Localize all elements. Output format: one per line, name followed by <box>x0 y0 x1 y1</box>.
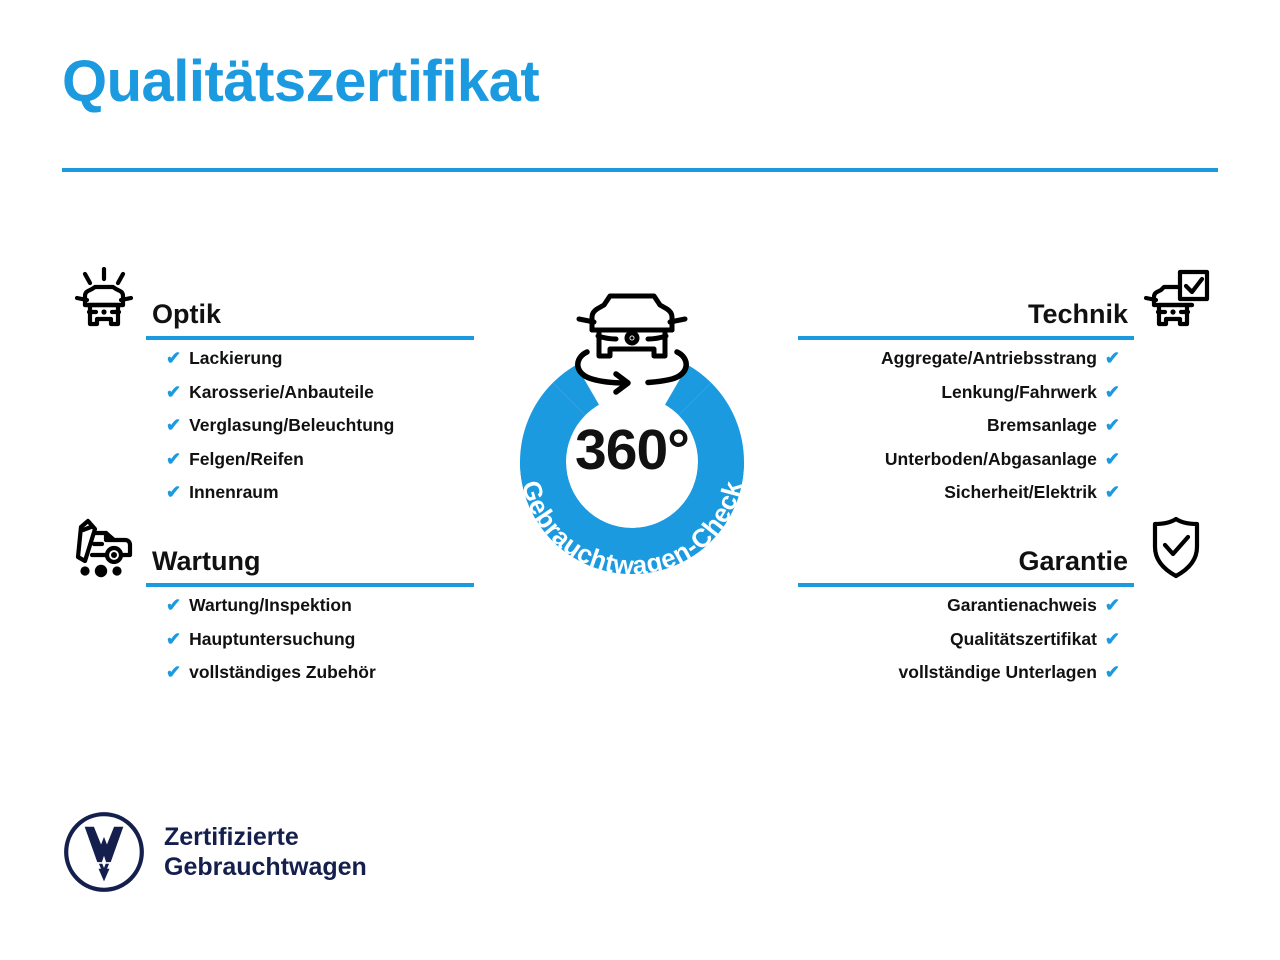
list-item: ✔Felgen/Reifen <box>166 443 474 477</box>
list-item: ✔Karosserie/Anbauteile <box>166 376 474 410</box>
list-item: Bremsanlage✔ <box>798 409 1120 443</box>
check-icon: ✔ <box>1105 450 1120 468</box>
car-rotation-icon <box>578 296 686 392</box>
section-wartung: Wartung ✔Wartung/Inspektion ✔Hauptunters… <box>62 505 474 690</box>
check-icon: ✔ <box>166 663 181 681</box>
list-item-label: Aggregate/Antriebsstrang <box>881 350 1097 368</box>
list-item-label: vollständige Unterlagen <box>899 664 1097 682</box>
badge-360-check: Gebrauchtwagen-Check 360° <box>462 252 802 612</box>
check-icon: ✔ <box>1105 349 1120 367</box>
list-item: ✔Wartung/Inspektion <box>166 589 474 623</box>
check-icon: ✔ <box>166 596 181 614</box>
section-garantie: Garantie Garantienachweis✔ Qualitätszert… <box>798 505 1218 690</box>
list-item-label: Wartung/Inspektion <box>189 597 352 615</box>
list-item-label: Karosserie/Anbauteile <box>189 384 374 402</box>
list-wartung: ✔Wartung/Inspektion ✔Hauptuntersuchung ✔… <box>166 589 474 690</box>
section-underline-optik <box>146 336 474 340</box>
list-item-label: Sicherheit/Elektrik <box>944 484 1097 502</box>
list-item-label: Hauptuntersuchung <box>189 631 355 649</box>
section-title-technik: Technik <box>798 300 1134 336</box>
list-item: vollständige Unterlagen✔ <box>798 656 1120 690</box>
section-title-wartung: Wartung <box>146 547 474 583</box>
section-technik: Technik Aggregate/Antriebs <box>798 258 1218 510</box>
list-item-label: Verglasung/Beleuchtung <box>189 417 394 435</box>
list-item-label: Garantienachweis <box>947 597 1097 615</box>
header-divider <box>62 168 1218 172</box>
list-item-label: Bremsanlage <box>987 417 1097 435</box>
list-item-label: Lackierung <box>189 350 282 368</box>
list-item: ✔vollständiges Zubehör <box>166 656 474 690</box>
section-optik: Optik ✔Lackierung ✔Karosserie/Anbauteile… <box>62 258 474 510</box>
list-item: Lenkung/Fahrwerk✔ <box>798 376 1120 410</box>
list-item: Garantienachweis✔ <box>798 589 1120 623</box>
certificate-page: Qualitätszertifikat <box>0 0 1280 960</box>
section-underline-technik <box>798 336 1134 340</box>
list-garantie: Garantienachweis✔ Qualitätszertifikat✔ v… <box>798 589 1120 690</box>
check-icon: ✔ <box>1105 416 1120 434</box>
list-item-label: Qualitätszertifikat <box>950 631 1097 649</box>
section-title-optik: Optik <box>146 300 474 336</box>
list-item-label: Lenkung/Fahrwerk <box>941 384 1097 402</box>
list-item: ✔Verglasung/Beleuchtung <box>166 409 474 443</box>
vw-logo <box>62 810 146 894</box>
footer-line-2: Gebrauchtwagen <box>164 852 367 883</box>
check-icon: ✔ <box>1105 383 1120 401</box>
check-icon: ✔ <box>166 349 181 367</box>
footer-brand: Zertifizierte Gebrauchtwagen <box>62 810 367 894</box>
list-technik: Aggregate/Antriebsstrang✔ Lenkung/Fahrwe… <box>798 342 1120 510</box>
page-title: Qualitätszertifikat <box>62 52 539 113</box>
footer-line-1: Zertifizierte <box>164 822 367 853</box>
section-underline-wartung <box>146 583 474 587</box>
list-item-label: Felgen/Reifen <box>189 451 304 469</box>
list-item: Unterboden/Abgasanlage✔ <box>798 443 1120 477</box>
check-icon: ✔ <box>166 630 181 648</box>
check-icon: ✔ <box>1105 663 1120 681</box>
check-icon: ✔ <box>1105 596 1120 614</box>
check-icon: ✔ <box>1105 630 1120 648</box>
list-item: ✔Lackierung <box>166 342 474 376</box>
section-underline-garantie <box>798 583 1134 587</box>
car-checkbox-icon <box>1134 258 1218 342</box>
list-item: ✔Hauptuntersuchung <box>166 623 474 657</box>
check-icon: ✔ <box>166 483 181 501</box>
list-optik: ✔Lackierung ✔Karosserie/Anbauteile ✔Verg… <box>166 342 474 510</box>
shield-check-icon <box>1134 505 1218 589</box>
list-item: Qualitätszertifikat✔ <box>798 623 1120 657</box>
check-icon: ✔ <box>166 383 181 401</box>
footer-text: Zertifizierte Gebrauchtwagen <box>164 822 367 883</box>
list-item-label: Unterboden/Abgasanlage <box>885 451 1097 469</box>
check-icon: ✔ <box>1105 483 1120 501</box>
car-shine-icon <box>62 258 146 342</box>
list-item: Aggregate/Antriebsstrang✔ <box>798 342 1120 376</box>
check-icon: ✔ <box>166 450 181 468</box>
list-item-label: Innenraum <box>189 484 278 502</box>
list-item-label: vollständiges Zubehör <box>189 664 376 682</box>
section-title-garantie: Garantie <box>798 547 1134 583</box>
check-icon: ✔ <box>166 416 181 434</box>
car-service-pen-icon <box>62 505 146 589</box>
